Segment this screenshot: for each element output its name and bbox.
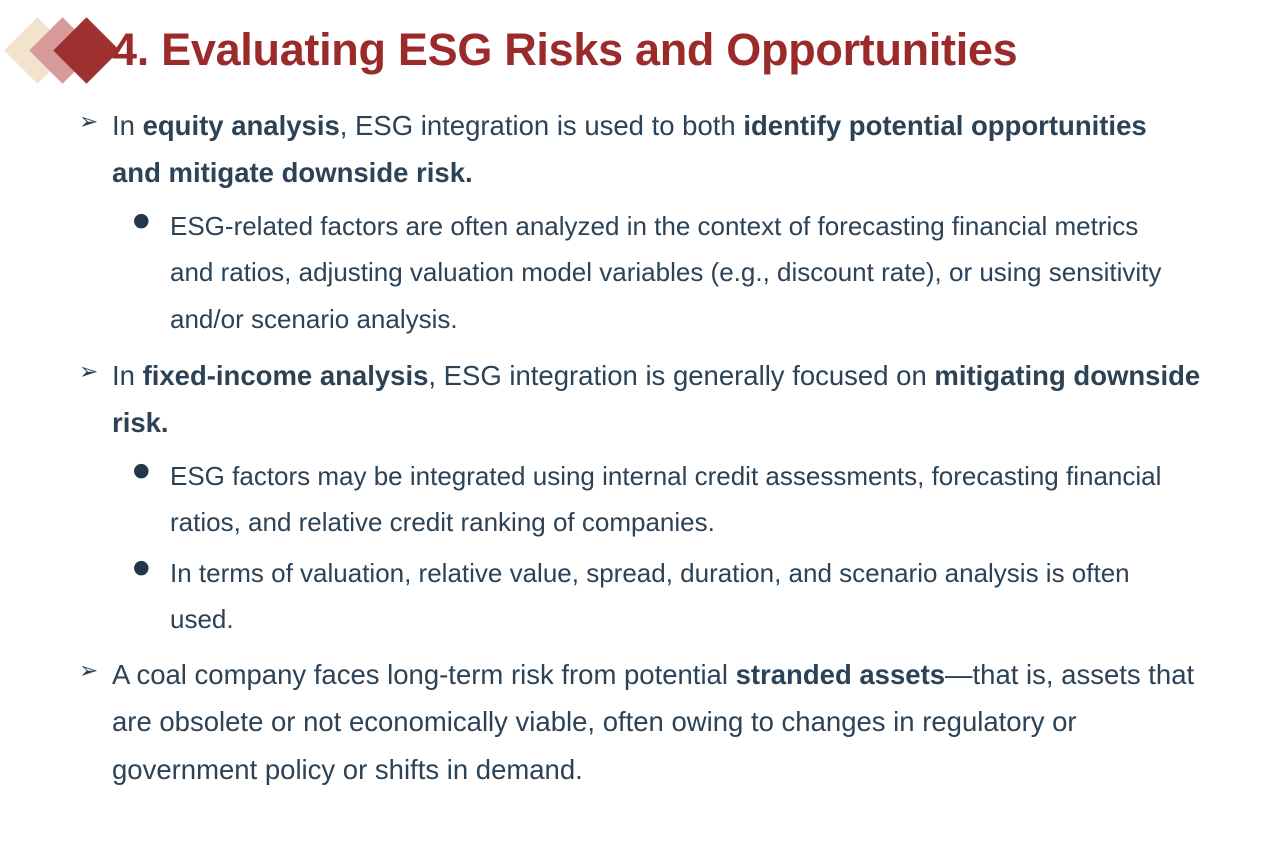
plain-text: ESG-related factors are often analyzed i… <box>170 211 1161 334</box>
arrow-bullet-icon: ➢ <box>79 103 98 143</box>
subbullet-text: ESG-related factors are often analyzed i… <box>170 211 1161 334</box>
bullet-coal-company-stranded-assets: ➢ A coal company faces long-term risk fr… <box>0 651 1281 793</box>
slide-root: 4. Evaluating ESG Risks and Opportunitie… <box>0 0 1281 844</box>
bullet-text: In fixed-income analysis, ESG integratio… <box>112 360 1200 438</box>
plain-text: In <box>112 110 143 141</box>
arrow-bullet-icon: ➢ <box>79 353 98 393</box>
dot-bullet-icon: ● <box>133 550 150 584</box>
dot-bullet-icon: ● <box>133 203 150 237</box>
bullet-text: A coal company faces long-term risk from… <box>112 659 1194 785</box>
bullet-equity-analysis: ➢ In equity analysis, ESG integration is… <box>0 102 1281 197</box>
emphasis-text: equity analysis <box>143 110 340 141</box>
subbullet-valuation-methods: ● In terms of valuation, relative value,… <box>0 550 1281 643</box>
dot-bullet-icon: ● <box>133 453 150 487</box>
plain-text: In terms of valuation, relative value, s… <box>170 558 1130 635</box>
plain-text: In <box>112 360 143 391</box>
page-title: 4. Evaluating ESG Risks and Opportunitie… <box>112 26 1017 73</box>
subbullet-esg-related-factors: ● ESG-related factors are often analyzed… <box>0 203 1281 343</box>
plain-text: , ESG integration is generally focused o… <box>428 360 934 391</box>
plain-text: , ESG integration is used to both <box>340 110 744 141</box>
emphasis-text: stranded assets <box>736 659 945 690</box>
plain-text: ESG factors may be integrated using inte… <box>170 461 1161 538</box>
three-diamonds-logo-icon <box>6 11 110 89</box>
slide-body: ➢ In equity analysis, ESG integration is… <box>0 100 1281 799</box>
emphasis-text: fixed-income analysis <box>143 360 429 391</box>
plain-text: A coal company faces long-term risk from… <box>112 659 736 690</box>
title-row: 4. Evaluating ESG Risks and Opportunitie… <box>0 6 1281 94</box>
bullet-fixed-income-analysis: ➢ In fixed-income analysis, ESG integrat… <box>0 352 1281 447</box>
subbullet-text: ESG factors may be integrated using inte… <box>170 461 1161 538</box>
arrow-bullet-icon: ➢ <box>79 652 98 692</box>
bullet-text: In equity analysis, ESG integration is u… <box>112 110 1147 188</box>
subbullet-internal-credit-assessments: ● ESG factors may be integrated using in… <box>0 453 1281 546</box>
subbullet-text: In terms of valuation, relative value, s… <box>170 558 1130 635</box>
